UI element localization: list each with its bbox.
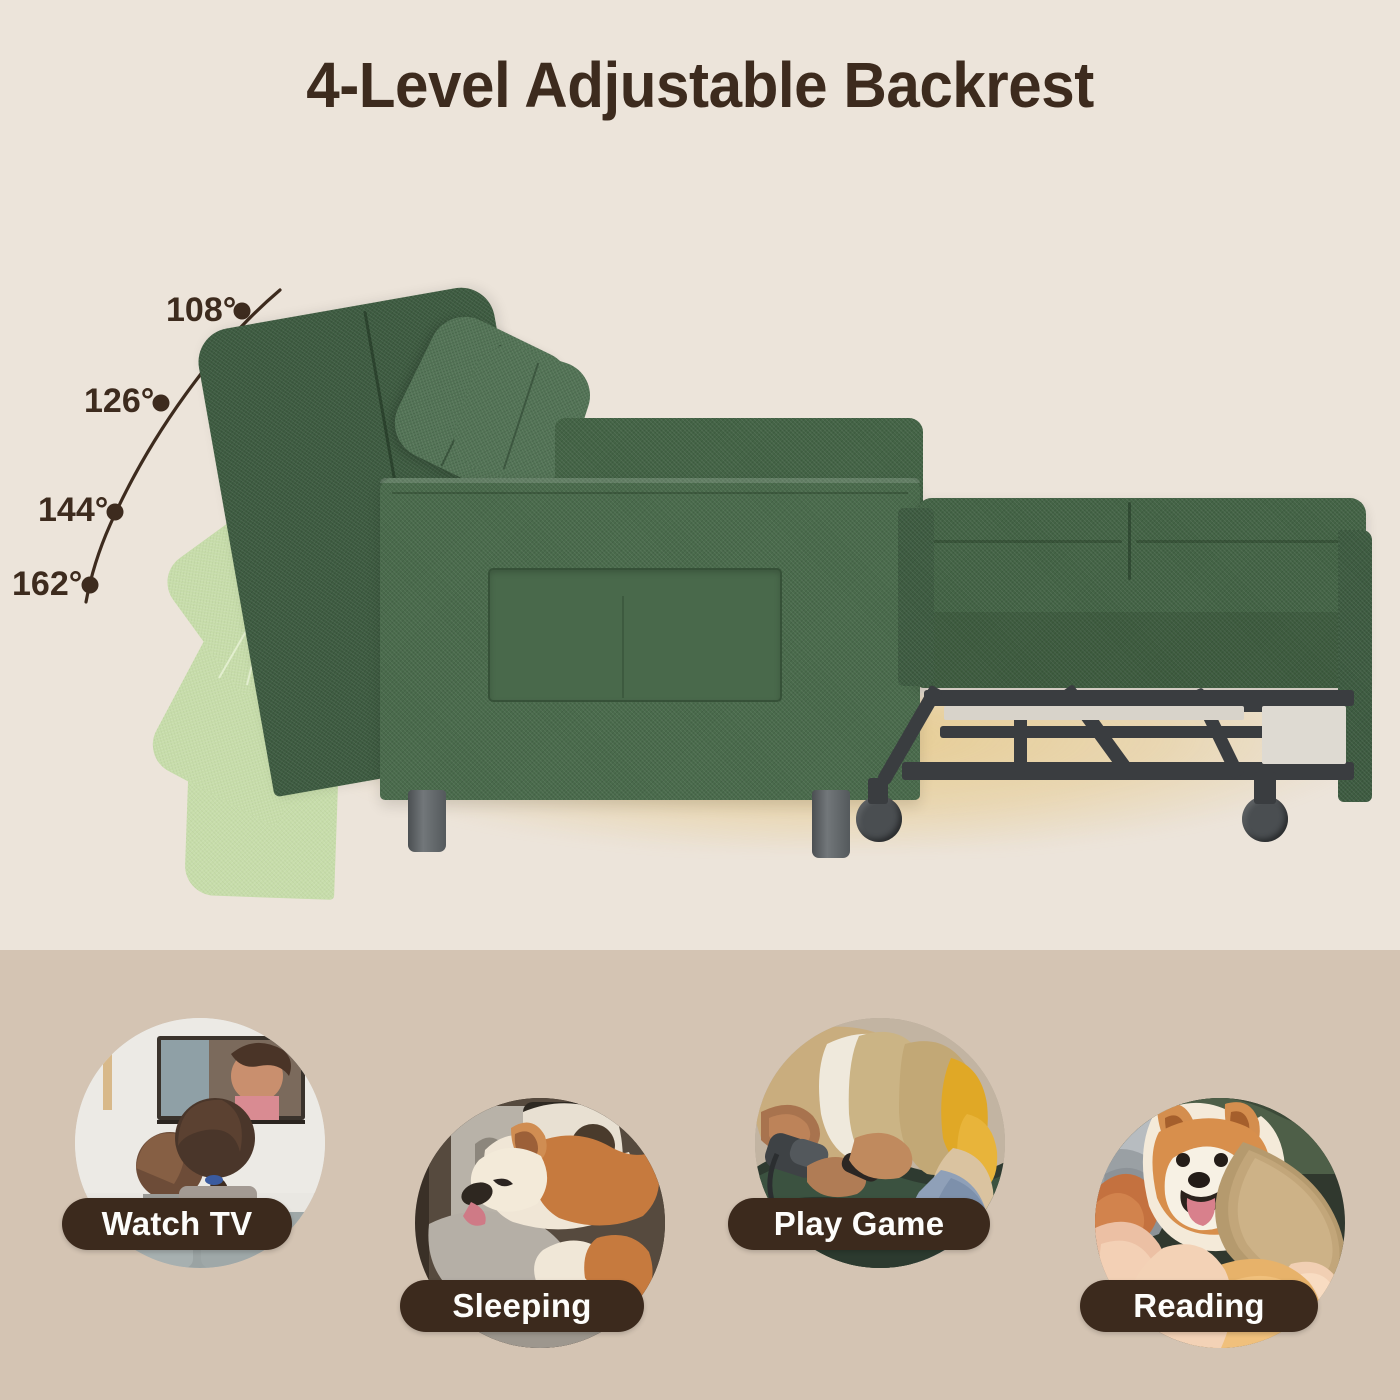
armrest-top-edge [380, 478, 920, 483]
angle-label-144: 144° [38, 491, 108, 530]
hero-section: 4-Level Adjustable Backrest 108° 126° 14… [0, 0, 1400, 950]
sofa-leg-rear [812, 790, 850, 858]
cushion-tuft-seam-horizontal [922, 540, 1122, 543]
page-title: 4-Level Adjustable Backrest [42, 48, 1358, 122]
use-case-label-watch-tv[interactable]: Watch TV [62, 1198, 292, 1250]
use-case-label-sleeping[interactable]: Sleeping [400, 1280, 644, 1332]
angle-dot-162 [82, 577, 99, 594]
frame-vertical-post [1014, 690, 1027, 772]
caster-stem-mid [868, 778, 888, 804]
armrest-stitch-line [392, 492, 908, 494]
angle-label-126: 126° [84, 382, 154, 421]
caster-stem-rear [1254, 772, 1276, 804]
infographic-page: 4-Level Adjustable Backrest 108° 126° 14… [0, 0, 1400, 1400]
angle-dot-144 [107, 504, 124, 521]
cushion-front-lip [916, 612, 1366, 688]
sofa-side-pocket [488, 568, 782, 702]
angle-label-108: 108° [166, 291, 236, 330]
sofa-hinge-cushion [898, 508, 934, 686]
use-cases-section: Watch TV [0, 950, 1400, 1400]
sofa-side-pocket-seam [622, 596, 624, 698]
angle-dot-126 [153, 395, 170, 412]
cushion-tuft-seam-vertical [1128, 502, 1131, 580]
cushion-tuft-seam-horizontal [1136, 540, 1358, 543]
sofa-leg-front [408, 790, 446, 852]
frame-slat-panel [944, 706, 1244, 720]
angle-label-162: 162° [12, 565, 82, 604]
use-case-label-play-game[interactable]: Play Game [728, 1198, 990, 1250]
frame-slat-panel [1262, 706, 1346, 764]
use-case-label-reading[interactable]: Reading [1080, 1280, 1318, 1332]
